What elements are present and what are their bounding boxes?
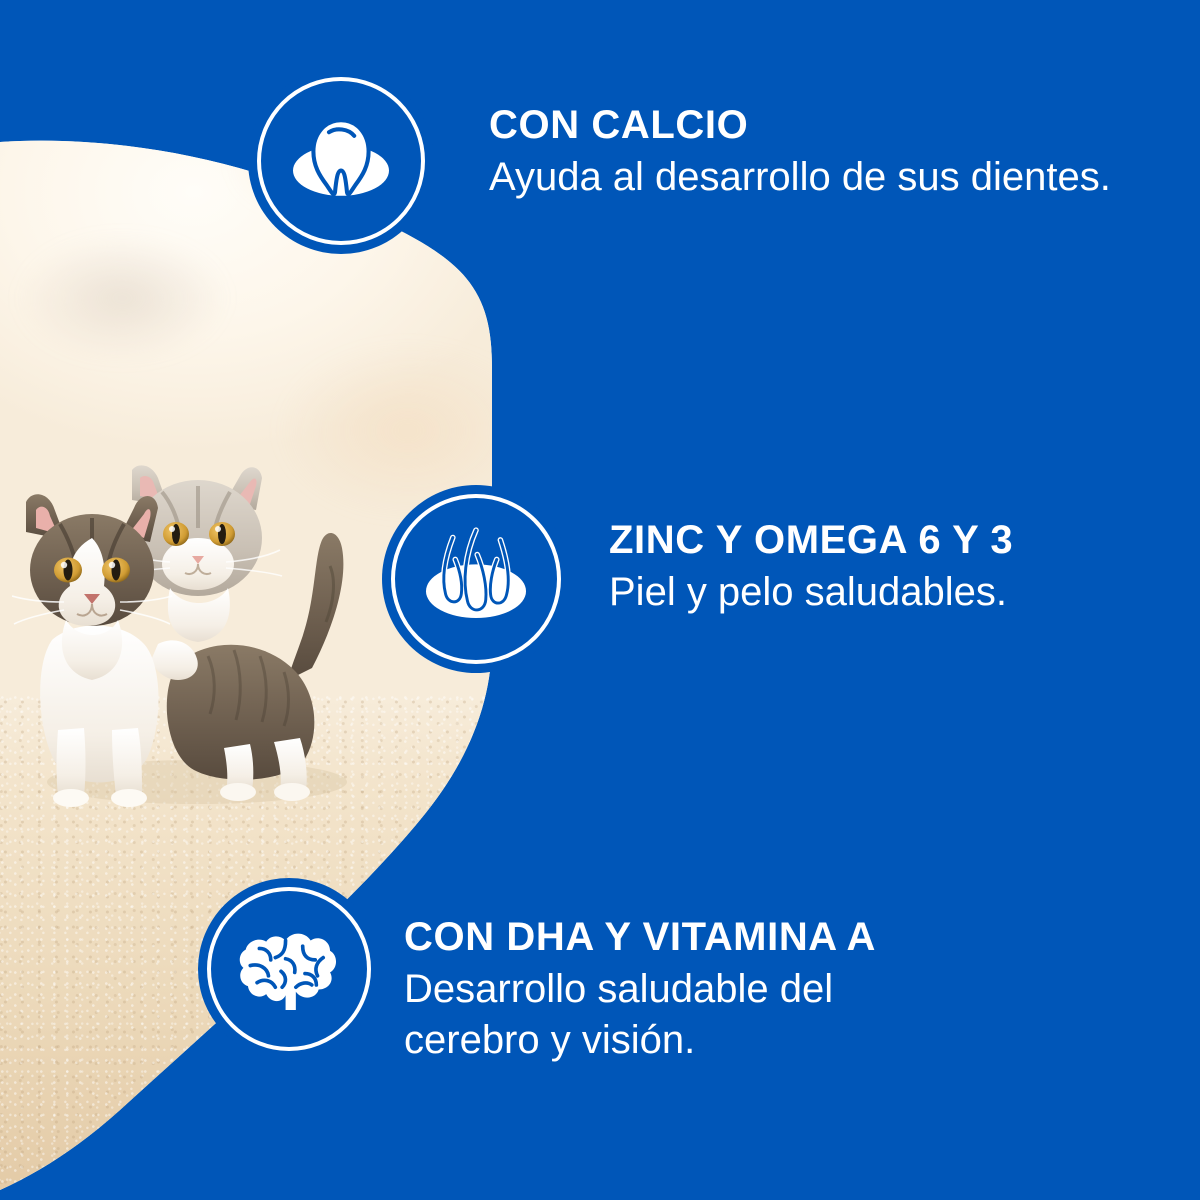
feature-dha-description-line2: cerebro y visión. <box>404 1015 984 1066</box>
hair-follicle-icon <box>415 518 537 640</box>
tooth-icon-badge <box>248 68 434 254</box>
feature-calcio-description: Ayuda al desarrollo de sus dientes. <box>489 152 1149 203</box>
feature-dha-text: CON DHA Y VITAMINA A Desarrollo saludabl… <box>404 915 984 1066</box>
brain-icon-badge <box>198 878 380 1060</box>
brain-icon <box>232 912 346 1026</box>
kittens-illustration <box>12 430 412 830</box>
nutrition-benefits-poster: CON CALCIO Ayuda al desarrollo de sus di… <box>0 0 1200 1200</box>
feature-calcio-title: CON CALCIO <box>489 103 1149 148</box>
hair-follicle-icon-badge <box>382 485 570 673</box>
feature-dha-title: CON DHA Y VITAMINA A <box>404 915 984 960</box>
feature-zinc-text: ZINC Y OMEGA 6 Y 3 Piel y pelo saludable… <box>609 518 1169 618</box>
tooth-icon <box>281 101 401 221</box>
feature-zinc-description: Piel y pelo saludables. <box>609 567 1169 618</box>
feature-zinc-title: ZINC Y OMEGA 6 Y 3 <box>609 518 1169 563</box>
feature-calcio-text: CON CALCIO Ayuda al desarrollo de sus di… <box>489 103 1149 203</box>
feature-dha-description-line1: Desarrollo saludable del <box>404 964 984 1015</box>
